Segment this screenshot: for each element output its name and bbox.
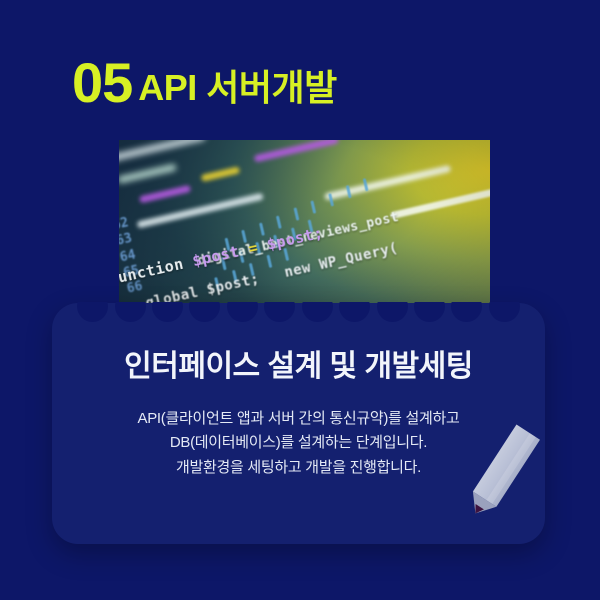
- card-notch: [115, 302, 146, 322]
- card-notch: [377, 302, 408, 322]
- page-title: 05 API 서버개발: [72, 58, 337, 107]
- card-notch: [264, 302, 295, 322]
- card-notch: [414, 302, 445, 322]
- card-body-text: API(클라이언트 앱과 서버 간의 통신규약)를 설계하고 DB(데이터베이스…: [52, 407, 545, 480]
- card-notch: [227, 302, 258, 322]
- card-notch: [489, 302, 520, 322]
- card-body-line: 개발환경을 세팅하고 개발을 진행합니다.: [52, 456, 545, 480]
- card-body-line: DB(데이터베이스)를 설계하는 단계입니다.: [52, 431, 545, 455]
- card-notch: [302, 302, 333, 322]
- card-notch: [451, 302, 482, 322]
- slide-canvas: 05 API 서버개발: [0, 0, 600, 600]
- card-notch: [339, 302, 370, 322]
- card-notch: [152, 302, 183, 322]
- card-body-line: API(클라이언트 앱과 서버 간의 통신규약)를 설계하고: [52, 407, 545, 431]
- page-title-text: API 서버개발: [138, 71, 337, 107]
- card-notch-strip: [52, 302, 545, 322]
- card-notch: [189, 302, 220, 322]
- photo-vignette: [119, 140, 490, 306]
- card-heading: 인터페이스 설계 및 개발세팅: [52, 341, 545, 385]
- step-number: 05: [72, 58, 132, 107]
- card-notch: [77, 302, 108, 322]
- code-photo: 62 63 64 65 66 digital_best_reviews_post…: [119, 140, 490, 306]
